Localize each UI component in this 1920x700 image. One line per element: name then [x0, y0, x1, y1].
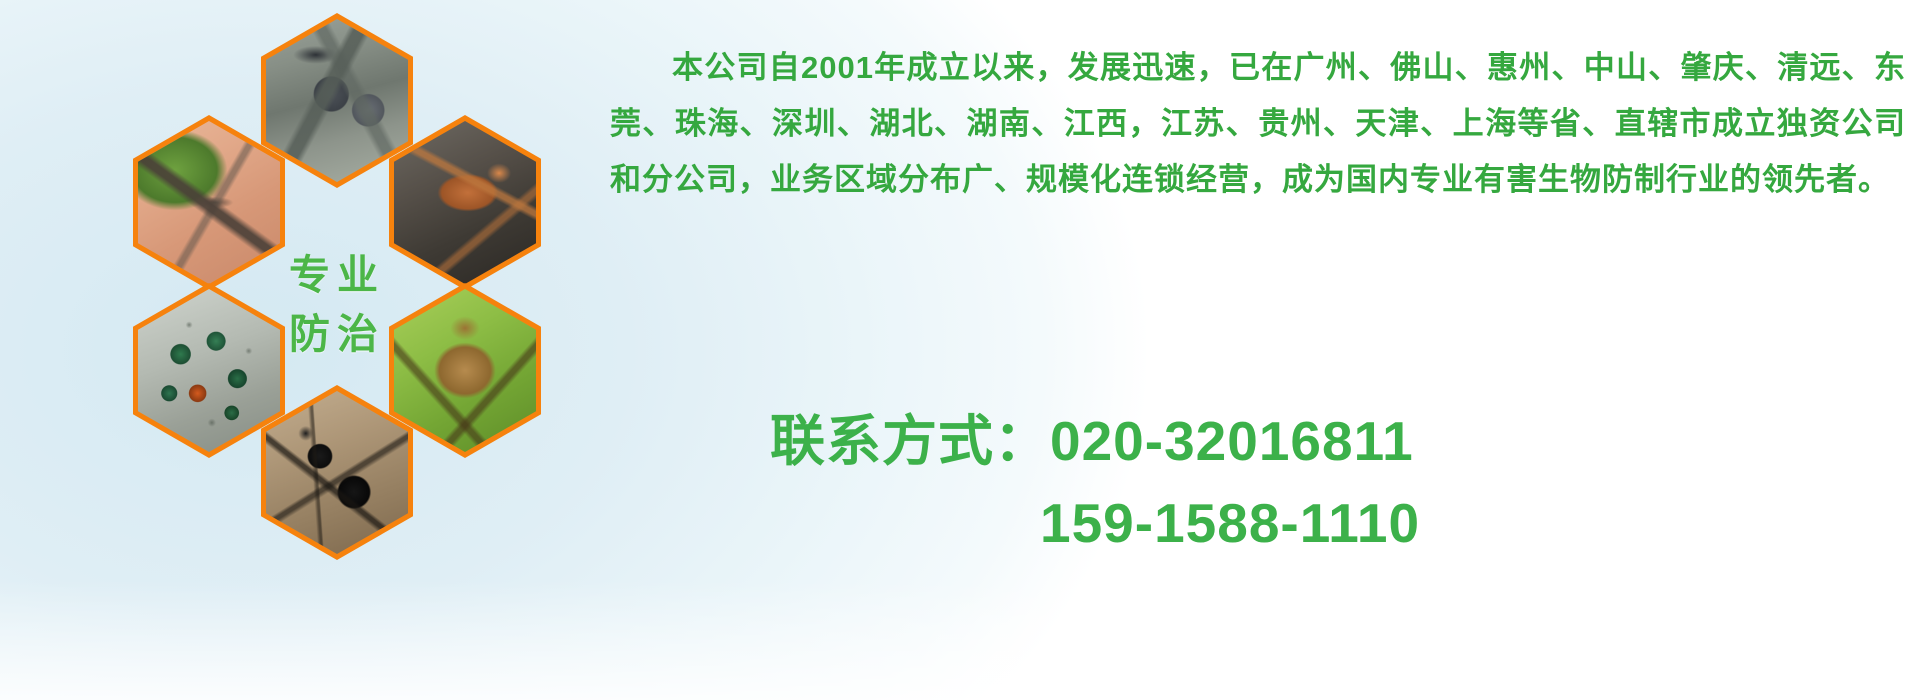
rats-photo-icon — [266, 19, 408, 182]
hex-photo-flies — [138, 289, 280, 452]
hex-photo-cockroach — [394, 121, 536, 284]
honeycomb-collage: 专业 防治 — [95, 5, 595, 565]
hex-photo-ant — [266, 391, 408, 554]
mosquito-photo-icon — [138, 121, 280, 284]
honeycomb-title-line1: 专业 — [289, 246, 385, 304]
contact-phone-primary[interactable]: 联系方式：020-32016811 — [770, 400, 1870, 482]
ant-photo-icon — [266, 391, 408, 554]
hex-photo-stinkbug — [394, 289, 536, 452]
promo-banner: 专业 防治 本公司自2001年成立以来，发展迅速，已在广州、佛山、惠州、中山、肇… — [0, 0, 1920, 700]
contact-block: 联系方式：020-32016811 159-1588-1110 — [770, 400, 1870, 564]
flies-photo-icon — [138, 289, 280, 452]
contact-phone-secondary[interactable]: 159-1588-1110 — [770, 482, 1870, 564]
stinkbug-photo-icon — [394, 289, 536, 452]
company-intro-paragraph: 本公司自2001年成立以来，发展迅速，已在广州、佛山、惠州、中山、肇庆、清远、东… — [610, 40, 1906, 208]
company-intro: 本公司自2001年成立以来，发展迅速，已在广州、佛山、惠州、中山、肇庆、清远、东… — [610, 40, 1906, 208]
hex-photo-mosquito — [138, 121, 280, 284]
cockroach-photo-icon — [394, 121, 536, 284]
honeycomb-title-line2: 防治 — [289, 305, 385, 363]
hex-photo-rats — [266, 19, 408, 182]
